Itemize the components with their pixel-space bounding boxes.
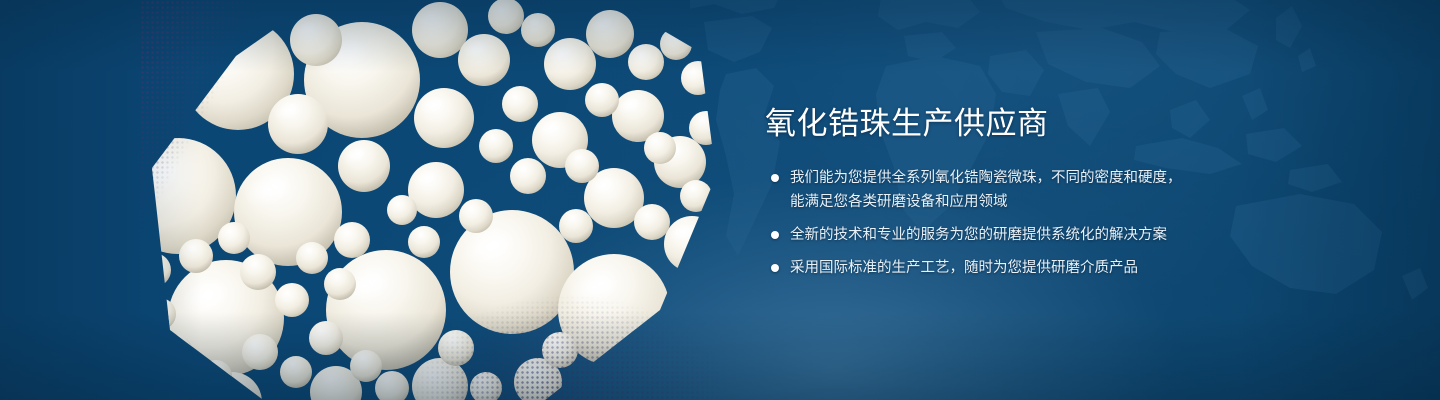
bullet-dot-icon <box>771 174 779 182</box>
bullet-line-1: 我们能为您提供全系列氧化锆陶瓷微珠，不同的密度和硬度， <box>790 170 1182 186</box>
banner-bullet-item: 我们能为您提供全系列氧化锆陶瓷微珠，不同的密度和硬度， 能满足您各类研磨设备和应… <box>765 166 1235 214</box>
bullet-dot-icon <box>771 264 779 272</box>
banner-bullet-item: 全新的技术和专业的服务为您的研磨提供系统化的解决方案 <box>765 223 1235 247</box>
banner-bullet-item: 采用国际标准的生产工艺，随时为您提供研磨介质产品 <box>765 256 1235 280</box>
bullet-line-1: 采用国际标准的生产工艺，随时为您提供研磨介质产品 <box>790 260 1138 276</box>
bullet-dot-icon <box>771 231 779 239</box>
bullet-line-2: 能满足您各类研磨设备和应用领域 <box>790 190 1235 214</box>
zirconia-beads-photo <box>140 0 720 400</box>
bullet-line-1: 全新的技术和专业的服务为您的研磨提供系统化的解决方案 <box>790 227 1167 243</box>
hero-banner: 氧化锆珠生产供应商 我们能为您提供全系列氧化锆陶瓷微珠，不同的密度和硬度， 能满… <box>0 0 1440 400</box>
banner-copy: 氧化锆珠生产供应商 我们能为您提供全系列氧化锆陶瓷微珠，不同的密度和硬度， 能满… <box>765 104 1235 280</box>
banner-headline: 氧化锆珠生产供应商 <box>765 104 1235 144</box>
banner-bullet-list: 我们能为您提供全系列氧化锆陶瓷微珠，不同的密度和硬度， 能满足您各类研磨设备和应… <box>765 166 1235 280</box>
